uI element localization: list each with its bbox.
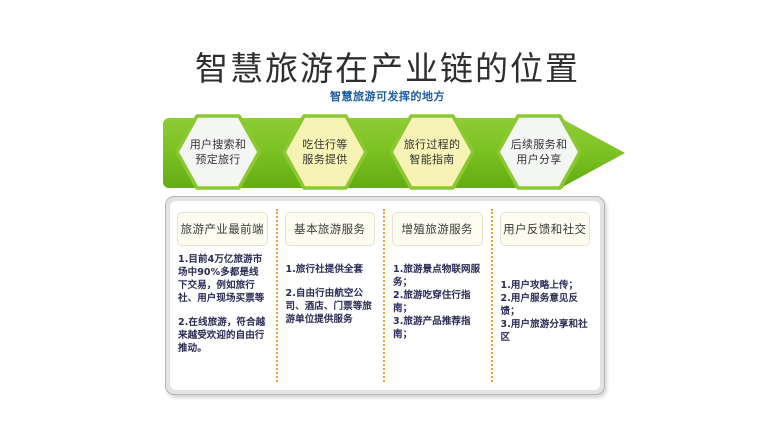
detail-column-4: 用户反馈和社交 1.用户攻略上传； 2.用户服务意见反馈； 3.用户旅游分享和社… — [493, 201, 601, 390]
detail-column-1: 旅游产业最前端 1.目前4万亿旅游市场中90%多都是线下交易，例如旅行社、用户现… — [170, 201, 278, 390]
detail-column-4-header: 用户反馈和社交 — [500, 212, 591, 246]
detail-column-2: 基本旅游服务 1.旅行社提供全套 2.自由行由航空公司、酒店、门票等旅游单位提供… — [278, 201, 386, 390]
stage-hexagon-4-line2: 用户分享 — [516, 152, 561, 167]
detail-column-1-item-1: 1.目前4万亿旅游市场中90%多都是线下交易，例如旅行社、用户现场买票等 — [178, 253, 266, 305]
stage-hexagon-3-line1: 旅行过程的 — [404, 137, 461, 152]
detail-column-2-item-1: 1.旅行社提供全套 — [286, 263, 374, 276]
stage-hexagon-1-line2: 预定旅行 — [195, 152, 240, 167]
stage-hexagon-2[interactable]: 吃住行等 服务提供 — [282, 114, 368, 190]
stage-hexagon-1-line1: 用户搜索和 — [190, 137, 247, 152]
stage-hexagon-4[interactable]: 后续服务和 用户分享 — [496, 114, 582, 190]
detail-column-4-item-1: 1.用户攻略上传； — [501, 279, 589, 292]
detail-column-2-body: 1.旅行社提供全套 2.自由行由航空公司、酒店、门票等旅游单位提供服务 — [286, 263, 374, 382]
stage-hexagon-4-line1: 后续服务和 — [511, 137, 568, 152]
stage-hexagon-4-label: 后续服务和 用户分享 — [496, 114, 582, 190]
detail-column-1-header: 旅游产业最前端 — [177, 212, 268, 246]
stage-hexagon-3[interactable]: 旅行过程的 智能指南 — [389, 114, 475, 190]
infographic-canvas: 智慧旅游在产业链的位置 智慧旅游可发挥的地方 — [0, 0, 775, 430]
stage-hexagon-2-line2: 服务提供 — [302, 152, 347, 167]
detail-column-2-header: 基本旅游服务 — [285, 212, 376, 246]
detail-column-3-header: 增殖旅游服务 — [392, 212, 483, 246]
detail-column-3-item-1: 1.旅游景点物联网服务； — [393, 263, 481, 289]
stage-hexagon-1[interactable]: 用户搜索和 预定旅行 — [175, 114, 261, 190]
stage-hexagon-3-label: 旅行过程的 智能指南 — [389, 114, 475, 190]
detail-column-4-body: 1.用户攻略上传； 2.用户服务意见反馈； 3.用户旅游分享和社区 — [501, 279, 589, 382]
detail-column-3-item-3: 3.旅游产品推荐指南； — [393, 315, 481, 341]
page-subtitle: 智慧旅游可发挥的地方 — [0, 90, 775, 104]
stage-hexagon-2-label: 吃住行等 服务提供 — [282, 114, 368, 190]
stage-hexagon-1-label: 用户搜索和 预定旅行 — [175, 114, 261, 190]
detail-column-1-body: 1.目前4万亿旅游市场中90%多都是线下交易，例如旅行社、用户现场买票等 2.在… — [178, 253, 266, 382]
detail-column-3-item-2: 2.旅游吃穿住行指南； — [393, 289, 481, 315]
stage-hexagon-3-line2: 智能指南 — [409, 152, 454, 167]
detail-column-4-item-3: 3.用户旅游分享和社区 — [501, 318, 589, 344]
detail-panel: 旅游产业最前端 1.目前4万亿旅游市场中90%多都是线下交易，例如旅行社、用户现… — [165, 196, 605, 395]
detail-column-3: 增殖旅游服务 1.旅游景点物联网服务； 2.旅游吃穿住行指南； 3.旅游产品推荐… — [385, 201, 493, 390]
detail-column-2-item-2: 2.自由行由航空公司、酒店、门票等旅游单位提供服务 — [286, 287, 374, 326]
page-title: 智慧旅游在产业链的位置 — [0, 50, 775, 88]
stage-hexagon-2-line1: 吃住行等 — [302, 137, 347, 152]
detail-column-3-body: 1.旅游景点物联网服务； 2.旅游吃穿住行指南； 3.旅游产品推荐指南； — [393, 263, 481, 382]
detail-column-4-item-2: 2.用户服务意见反馈； — [501, 292, 589, 318]
detail-column-1-item-2: 2.在线旅游，符合越来越受欢迎的自由行推动。 — [178, 316, 266, 355]
detail-panel-inner: 旅游产业最前端 1.目前4万亿旅游市场中90%多都是线下交易，例如旅行社、用户现… — [170, 201, 600, 390]
